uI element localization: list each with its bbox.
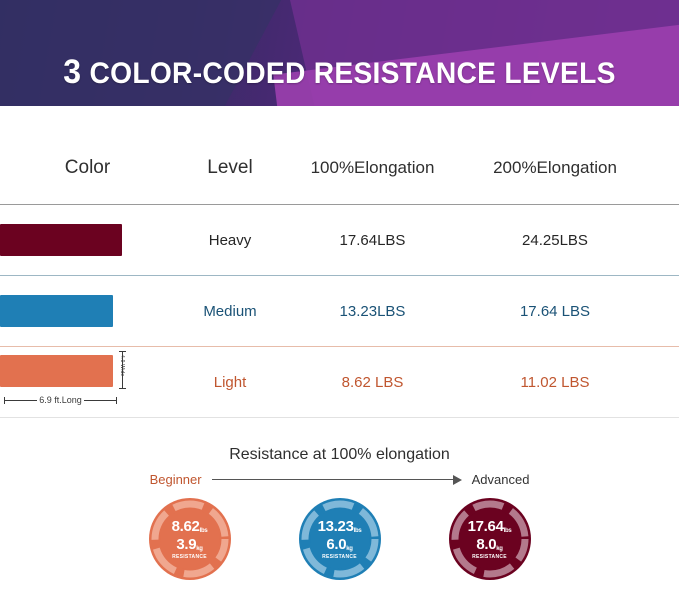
badge-kg-value-medium: 6.0 [326, 536, 346, 553]
dimension-line-left [5, 400, 37, 401]
value-elongation-100-light: 8.62 LBS [285, 374, 460, 391]
badge-caption-heavy: RESISTANCE [472, 555, 507, 560]
badge-kg-unit-light: kg [196, 546, 202, 552]
resistance-badge-group: 8.62lbs 3.9kg RESISTANCE 13.23lbs 6.0kg … [0, 497, 679, 581]
badge-lbs-medium: 13.23lbs [318, 519, 362, 534]
badge-kg-unit-medium: kg [346, 546, 352, 552]
title-text: COLOR-CODED RESISTANCE LEVELS [81, 57, 615, 90]
table-row: 6.9 ft.Long 4.9 Wide Light 8.62 LBS 11.0… [0, 347, 679, 417]
dimension-length: 6.9 ft.Long [4, 395, 117, 405]
column-header-level: Level [175, 157, 285, 179]
arrow-line [212, 479, 453, 480]
value-elongation-200-light: 11.02 LBS [460, 374, 650, 391]
badge-caption-medium: RESISTANCE [322, 555, 357, 560]
column-header-color: Color [0, 157, 175, 179]
badge-kg-value-heavy: 8.0 [476, 536, 496, 553]
level-label-heavy: Heavy [175, 232, 285, 249]
color-swatch-cell-medium [0, 276, 175, 346]
badge-lbs-unit-heavy: lbs [504, 528, 512, 534]
color-swatch-medium [0, 295, 113, 327]
level-label-light: Light [175, 374, 285, 391]
resistance-table: Color Level 100%Elongation 200%Elongatio… [0, 106, 679, 418]
title-lead-number: 3 [63, 53, 81, 91]
table-row: Medium 13.23LBS 17.64 LBS [0, 276, 679, 346]
badge-lbs-unit-light: lbs [200, 528, 208, 534]
table-row: Heavy 17.64LBS 24.25LBS [0, 205, 679, 275]
badge-lbs-unit-medium: lbs [354, 528, 362, 534]
dimension-line-right [84, 400, 116, 401]
badge-inner-light: 8.62lbs 3.9kg RESISTANCE [160, 509, 220, 569]
badge-lbs-heavy: 17.64lbs [468, 519, 512, 534]
dimension-width: 4.9 Wide [117, 351, 127, 389]
badge-inner-medium: 13.23lbs 6.0kg RESISTANCE [310, 509, 370, 569]
level-label-medium: Medium [175, 303, 285, 320]
swatch-dimension-wrapper: 6.9 ft.Long 4.9 Wide [0, 347, 175, 417]
badge-lbs-value-medium: 13.23 [318, 518, 354, 535]
table-header-row: Color Level 100%Elongation 200%Elongatio… [0, 132, 679, 204]
badge-lbs-value-heavy: 17.64 [468, 518, 504, 535]
scale-arrow-icon [212, 475, 462, 485]
difficulty-scale: Beginner Advanced [0, 472, 679, 487]
dimension-length-label: 6.9 ft.Long [37, 395, 84, 405]
badge-kg-unit-heavy: kg [496, 546, 502, 552]
resistance-badge-heavy: 17.64lbs 8.0kg RESISTANCE [448, 497, 532, 581]
badge-lbs-light: 8.62lbs [172, 519, 208, 534]
resistance-badge-medium: 13.23lbs 6.0kg RESISTANCE [298, 497, 382, 581]
value-elongation-100-medium: 13.23LBS [285, 303, 460, 320]
resistance-badge-light: 8.62lbs 3.9kg RESISTANCE [148, 497, 232, 581]
color-swatch-heavy [0, 224, 122, 256]
color-swatch-cell-light: 6.9 ft.Long 4.9 Wide [0, 347, 175, 417]
color-swatch-cell-heavy [0, 205, 175, 275]
badge-kg-medium: 6.0kg [326, 537, 352, 552]
chart-title: Resistance at 100% elongation [0, 446, 679, 464]
column-header-elongation-100: 100%Elongation [285, 158, 460, 178]
dimension-width-label: 4.9 Wide [119, 355, 125, 376]
scale-label-advanced: Advanced [472, 472, 530, 487]
resistance-scale-chart: Resistance at 100% elongation Beginner A… [0, 446, 679, 596]
page-title: 3 COLOR-CODED RESISTANCE LEVELS [20, 53, 658, 92]
dimension-tick-bottom [119, 388, 126, 389]
dimension-tick-right [116, 397, 117, 404]
divider-bottom [0, 417, 679, 418]
column-header-elongation-200: 200%Elongation [460, 158, 650, 178]
value-elongation-200-medium: 17.64 LBS [460, 303, 650, 320]
color-swatch-light [0, 355, 113, 387]
badge-kg-value-light: 3.9 [176, 536, 196, 553]
badge-caption-light: RESISTANCE [172, 555, 207, 560]
badge-kg-light: 3.9kg [176, 537, 202, 552]
badge-lbs-value-light: 8.62 [172, 518, 200, 535]
value-elongation-200-heavy: 24.25LBS [460, 232, 650, 249]
value-elongation-100-heavy: 17.64LBS [285, 232, 460, 249]
header-banner: 3 COLOR-CODED RESISTANCE LEVELS [0, 0, 679, 106]
badge-kg-heavy: 8.0kg [476, 537, 502, 552]
arrow-head [453, 475, 462, 485]
scale-label-beginner: Beginner [150, 472, 202, 487]
badge-inner-heavy: 17.64lbs 8.0kg RESISTANCE [460, 509, 520, 569]
